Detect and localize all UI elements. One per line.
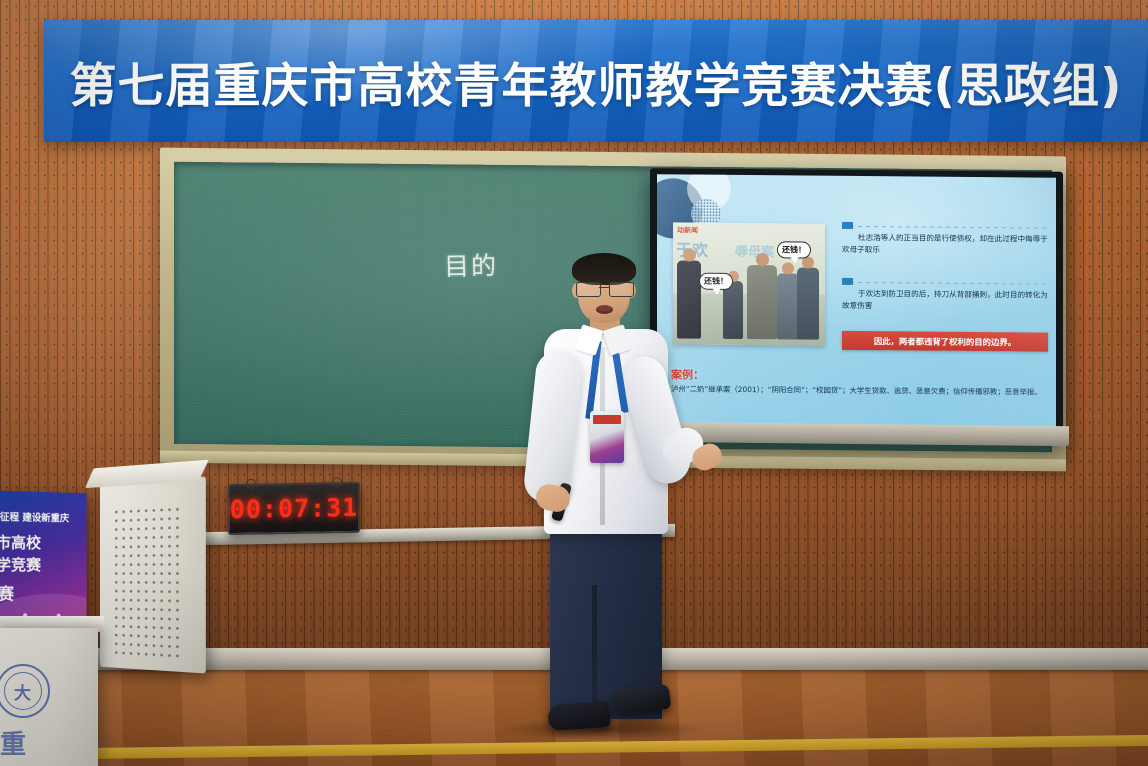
- presenter-leg-separation: [592, 585, 597, 717]
- presenter-glasses-icon: [576, 282, 634, 296]
- slide-conclusion-band: 因此，两者都违背了权利的目的边界。: [842, 331, 1048, 352]
- poster-line-2: 市高校: [0, 531, 41, 553]
- podium-institution-character: 重: [0, 724, 26, 761]
- speech-bubble-right: 还钱！: [777, 241, 811, 258]
- poster-line-3: 学竞赛: [0, 554, 41, 575]
- bullet-marker: [842, 278, 853, 285]
- timer-hook-left: [246, 479, 256, 489]
- photo-person-4: [777, 273, 799, 339]
- presentation-display[interactable]: 动新闻 于欢 辱母案 还钱！ 还钱！ 杜志浩等人的正当目的是行使债权，却在此过程…: [650, 168, 1063, 444]
- badge-header-strip: [593, 415, 621, 424]
- presenter-hair: [572, 253, 636, 285]
- photo-person-3: [747, 265, 777, 339]
- presenter-id-badge: [590, 411, 624, 463]
- classroom-photo-scene: 第七届重庆市高校青年教师教学竞赛决赛(思政组) 目的 动新闻 于欢 辱母案: [0, 0, 1148, 766]
- glasses-lens-right: [609, 282, 634, 297]
- lectern-podium: 大 重: [0, 628, 98, 766]
- bullet-divider: [842, 226, 1048, 229]
- glasses-lens-left: [576, 282, 601, 297]
- speaker-grille: [113, 505, 180, 658]
- wall-speaker: [100, 476, 206, 673]
- timer-display-value: 00:07:31: [230, 493, 358, 524]
- slide-bullet-1: 杜志浩等人的正当目的是行使债权，却在此过程中侮辱于欢母子取乐: [842, 220, 1048, 264]
- university-seal-icon: 大: [0, 664, 50, 718]
- slide-bullet-1-text: 杜志浩等人的正当目的是行使债权，却在此过程中侮辱于欢母子取乐: [842, 232, 1048, 258]
- event-banner-title: 第七届重庆市高校青年教师教学竞赛决赛(思政组): [44, 20, 1148, 142]
- slide-content: 动新闻 于欢 辱母案 还钱！ 还钱！ 杜志浩等人的正当目的是行使债权，却在此过程…: [657, 174, 1056, 430]
- poster-line-1: 征程 建设新重庆: [0, 509, 69, 524]
- timer-hook-right: [332, 477, 342, 487]
- seal-center-character: 大: [14, 679, 31, 704]
- presenter: [520, 255, 705, 735]
- slide-bullet-2-text: 于欢达到防卫目的后，持刀从背部捅刺，此时目的转化为故意伤害: [842, 288, 1048, 314]
- glasses-bridge: [599, 287, 609, 288]
- presenter-mouth: [596, 305, 613, 314]
- countdown-timer: 00:07:31: [228, 482, 360, 535]
- photo-source-tag: 动新闻: [677, 225, 698, 235]
- event-banner: 第七届重庆市高校青年教师教学竞赛决赛(思政组): [44, 20, 1148, 142]
- slide-case-label: 案例：: [671, 366, 1053, 385]
- blackboard-chalk-text: 目的: [444, 246, 499, 283]
- bullet-divider: [842, 282, 1048, 285]
- photo-person-5: [797, 267, 819, 339]
- presenter-shoe-left: [547, 701, 611, 731]
- slide-case-section: 案例： 泸州“二奶”继承案（2001）；“阴阳合同”；“校园贷”；大学生贷款、逃…: [671, 366, 1053, 397]
- slide-bullet-2: 于欢达到防卫目的后，持刀从背部捅刺，此时目的转化为故意伤害: [842, 276, 1048, 320]
- bullet-marker: [842, 222, 853, 229]
